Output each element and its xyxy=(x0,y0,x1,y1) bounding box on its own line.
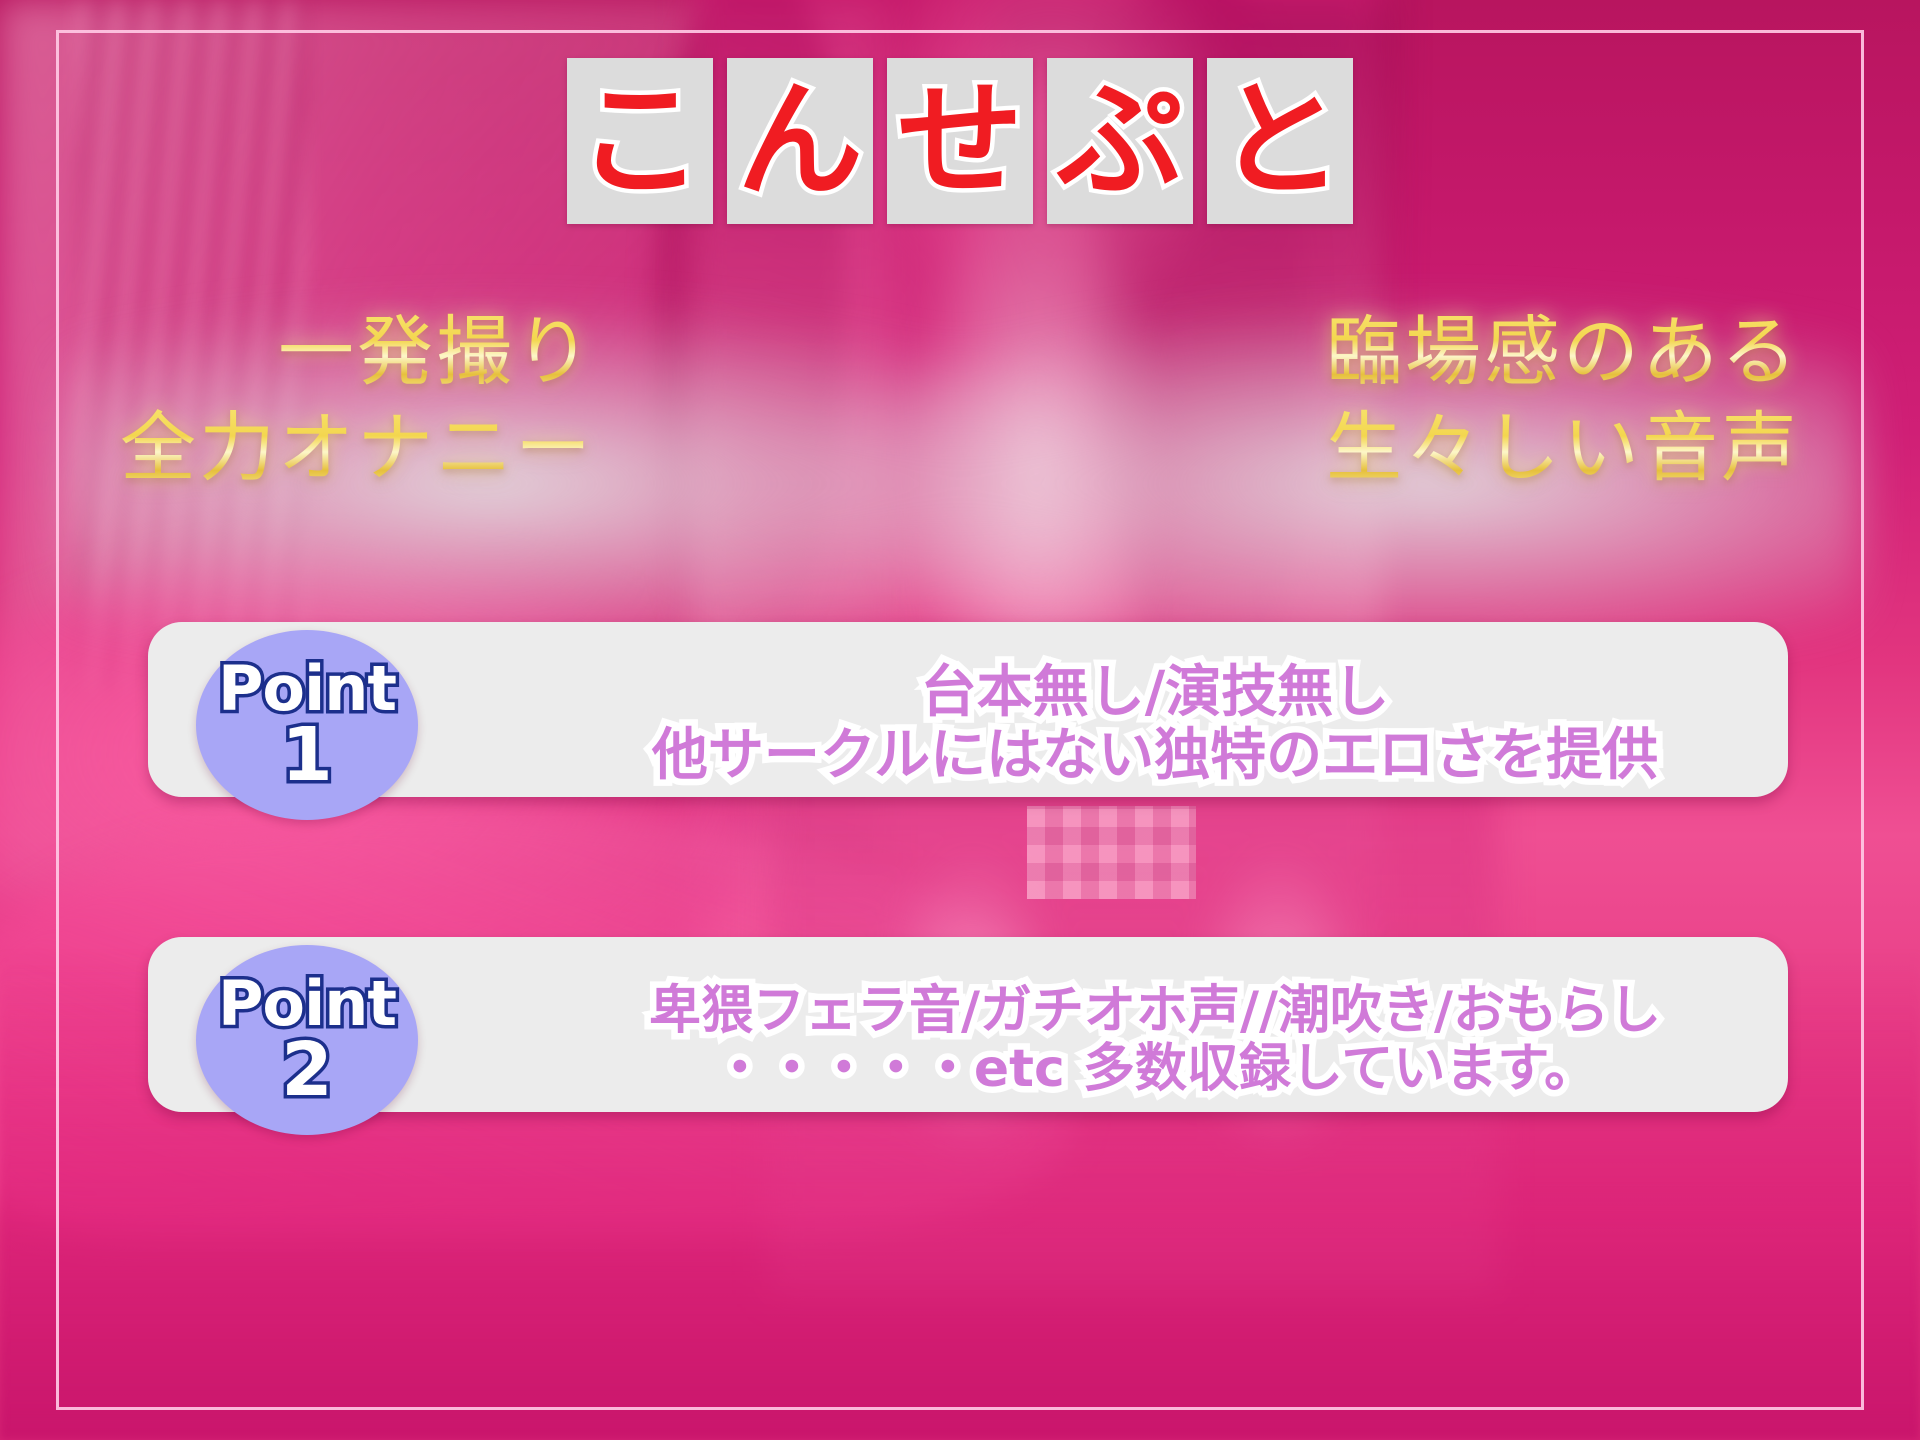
point-badge-2: Point 2 xyxy=(196,945,418,1135)
title-char-box-5: と xyxy=(1207,58,1353,224)
point-badge-word-2: Point xyxy=(218,975,396,1032)
point-text-1: 台本無し/演技無し 他サークルにはない独特のエロさを提供 xyxy=(440,662,1870,787)
poster-canvas: こ ん せ ぷ と 一発撮り 全力オナニー 臨場感のある 生々しい音声 Poin… xyxy=(0,0,1920,1440)
point-2-line-2: ・・・・・etc 多数収録しています。 xyxy=(714,1040,1596,1098)
point-1-line-1: 台本無し/演技無し xyxy=(921,662,1389,725)
title-char-box-2: ん xyxy=(727,58,873,224)
title-char-box-4: ぷ xyxy=(1047,58,1193,224)
title-heading: こ ん せ ぷ と xyxy=(0,58,1920,224)
catch-copy-left: 一発撮り 全力オナニー xyxy=(120,312,634,488)
point-2-line-1: 卑猥フェラ音/ガチオホ声//潮吹き/おもらし xyxy=(649,982,1661,1040)
catch-left-line-2: 全力オナニー xyxy=(120,408,594,488)
point-1-line-2: 他サークルにはない独特のエロさを提供 xyxy=(652,725,1658,788)
title-char-1: こ xyxy=(577,78,703,204)
point-text-2: 卑猥フェラ音/ガチオホ声//潮吹き/おもらし ・・・・・etc 多数収録していま… xyxy=(440,982,1870,1098)
background-mosaic-censor xyxy=(1027,806,1196,898)
point-badge-number-1: 1 xyxy=(281,721,333,789)
title-char-2: ん xyxy=(737,78,863,204)
catch-copy-right: 臨場感のある 生々しい音声 xyxy=(1316,312,1800,488)
catch-right-line-2: 生々しい音声 xyxy=(1326,408,1800,488)
title-char-box-1: こ xyxy=(567,58,713,224)
catch-left-line-1: 一発撮り xyxy=(278,312,594,392)
catch-right-line-1: 臨場感のある xyxy=(1326,312,1800,392)
point-badge-1: Point 1 xyxy=(196,630,418,820)
title-char-5: と xyxy=(1217,78,1343,204)
title-char-4: ぷ xyxy=(1057,78,1183,204)
point-row-2: Point 2 卑猥フェラ音/ガチオホ声//潮吹き/おもらし ・・・・・etc … xyxy=(0,945,1920,1135)
title-char-3: せ xyxy=(897,78,1023,204)
point-badge-word-1: Point xyxy=(218,660,396,717)
point-row-1: Point 1 台本無し/演技無し 他サークルにはない独特のエロさを提供 xyxy=(0,630,1920,820)
title-char-box-3: せ xyxy=(887,58,1033,224)
catch-copy: 一発撮り 全力オナニー 臨場感のある 生々しい音声 xyxy=(0,312,1920,488)
point-badge-number-2: 2 xyxy=(281,1036,333,1104)
